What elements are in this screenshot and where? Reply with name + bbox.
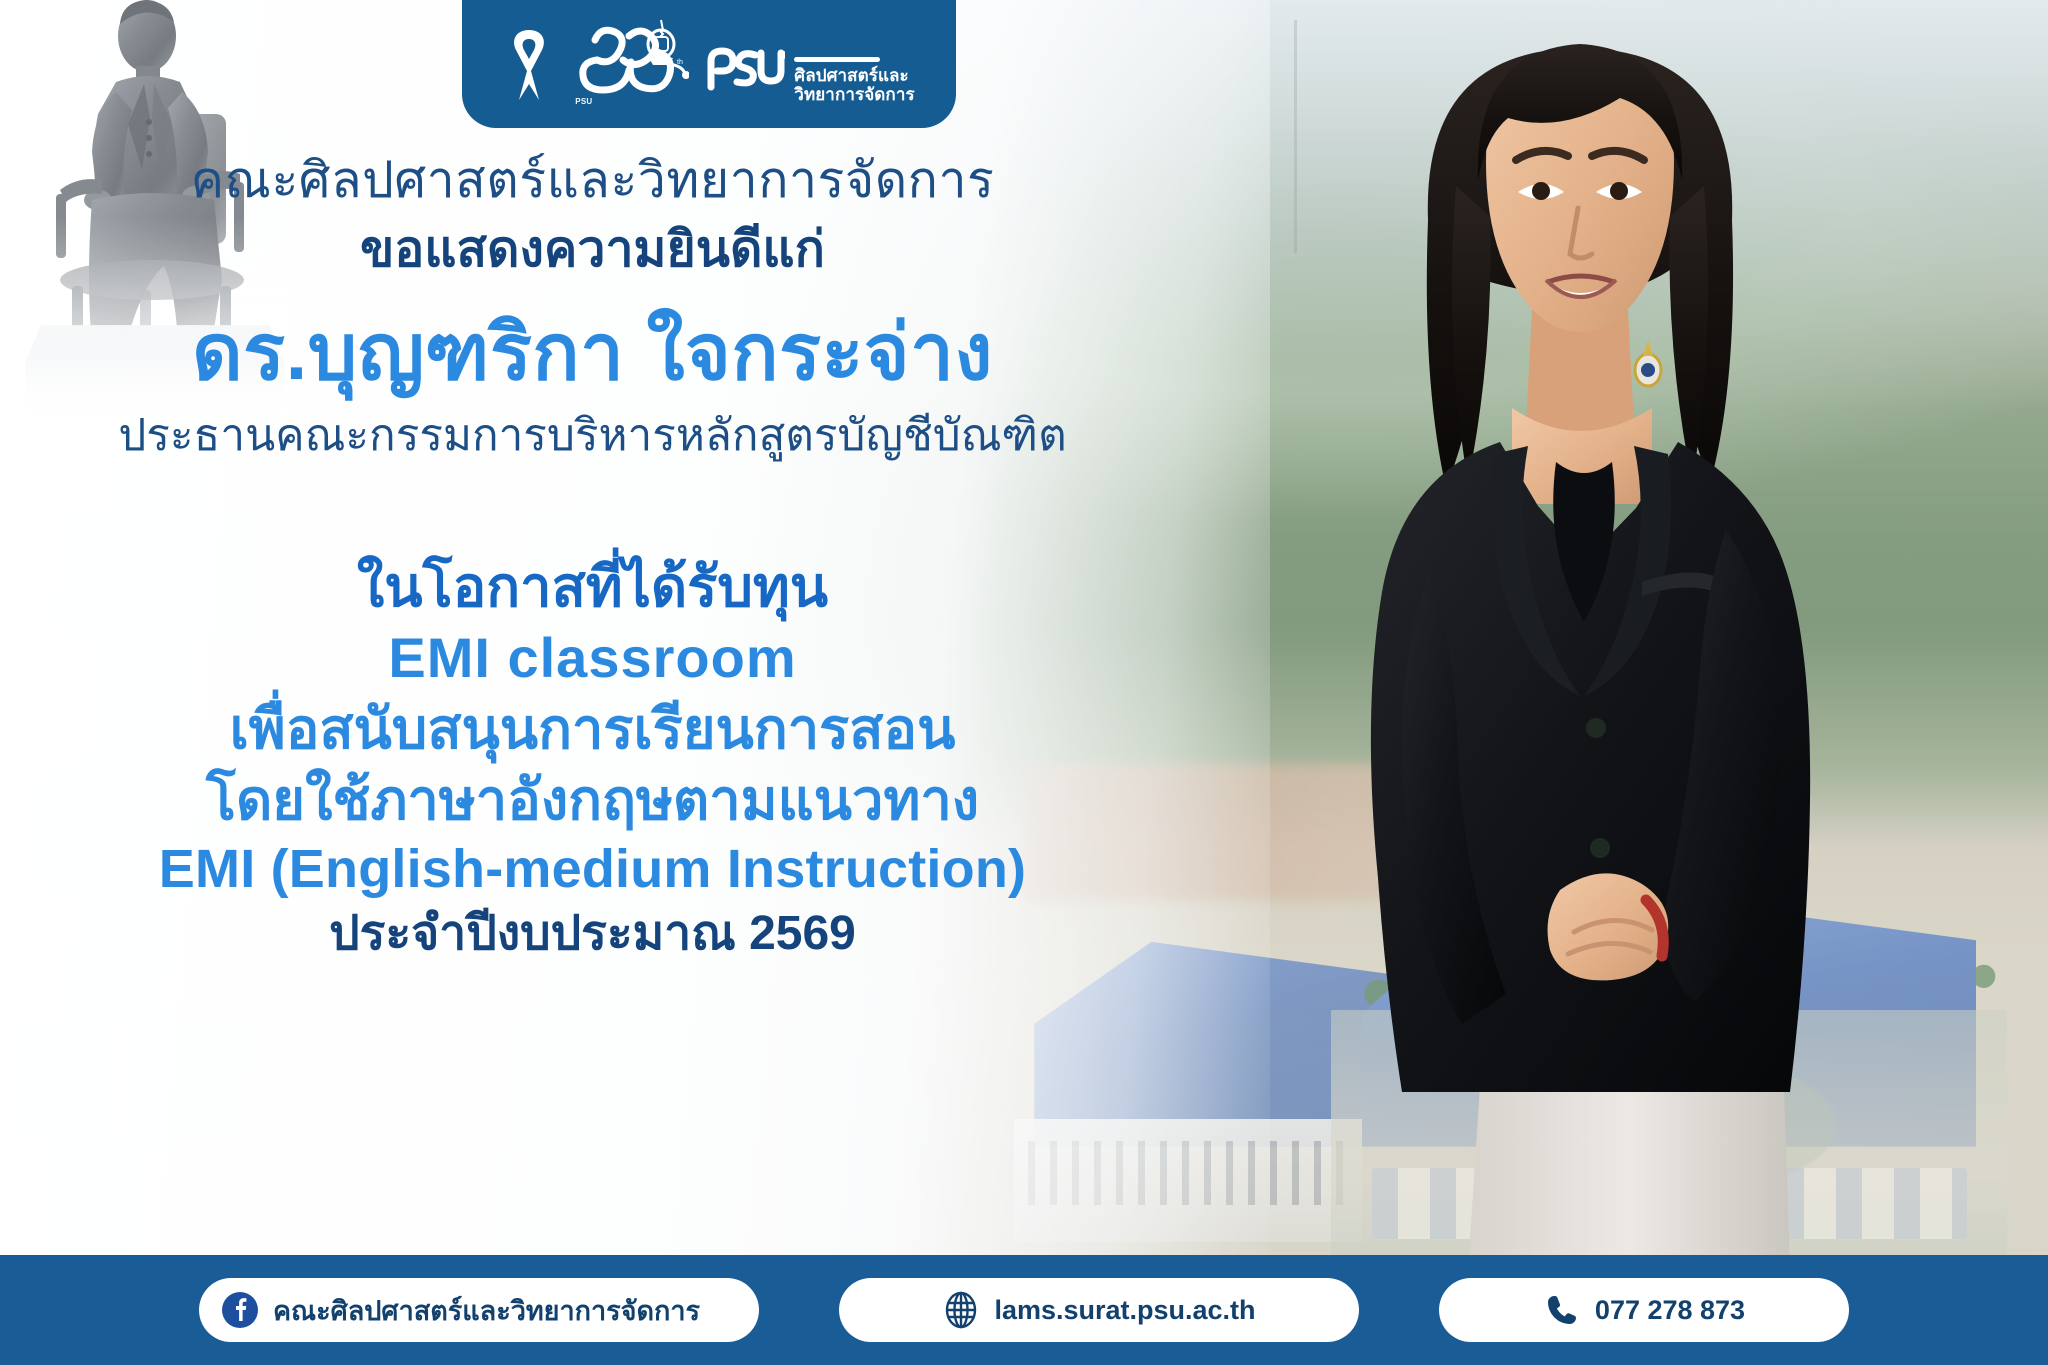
white-awareness-ribbon-icon (503, 26, 555, 104)
phone-label: 077 278 873 (1595, 1295, 1745, 1326)
website-label: lams.surat.psu.ac.th (994, 1295, 1255, 1326)
psu-wordmark-icon (707, 47, 785, 91)
psu-faculty-name: ศิลปศาสตร์และ วิทยาการจัดการ (794, 47, 914, 104)
award-line-5: EMI (English-medium Instruction) (0, 835, 1185, 904)
phone-icon (1543, 1291, 1581, 1329)
congratulate-heading: ขอแสดงความยินดีแก่ (0, 219, 1185, 280)
anniversary-caption: PSU (575, 97, 592, 106)
award-line-3: เพื่อสนับสนุนการเรียนการสอน (0, 693, 1185, 764)
honoree-portrait (1260, 10, 1900, 1270)
faculty-heading: คณะศิลปศาสตร์และวิทยาการจัดการ (0, 150, 1185, 211)
globe-icon (942, 1291, 980, 1329)
svg-text:th: th (677, 59, 683, 66)
congratulations-poster: th PSU ศิลปศาสตร์และ วิทยาการจัดการ คณะศ… (0, 0, 2048, 1365)
psu-faculty-line-1: ศิลปศาสตร์และ (794, 67, 914, 85)
lapel-pin-icon (1635, 340, 1661, 386)
facebook-label: คณะศิลปศาสตร์และวิทยาการจัดการ (273, 1289, 700, 1332)
award-line-4: โดยใช้ภาษาอังกฤษตามแนวทาง (0, 764, 1185, 835)
logo-rule (794, 57, 880, 62)
facebook-icon (221, 1291, 259, 1329)
honoree-name: ดร.บุญฑริกา ใจกระจ่าง (0, 306, 1185, 400)
phone-contact-pill[interactable]: 077 278 873 (1439, 1278, 1849, 1342)
facebook-contact-pill[interactable]: คณะศิลปศาสตร์และวิทยาการจัดการ (199, 1278, 759, 1342)
poster-text-block: คณะศิลปศาสตร์และวิทยาการจัดการ ขอแสดงควา… (0, 150, 1185, 965)
award-details-block: ในโอกาสที่ได้รับทุน EMI classroom เพื่อส… (0, 551, 1185, 965)
psu-faculty-line-2: วิทยาการจัดการ (794, 86, 914, 104)
award-line-2: EMI classroom (0, 622, 1185, 693)
psu-logo-lockup: ศิลปศาสตร์และ วิทยาการจัดการ (707, 47, 914, 104)
brand-badge: th PSU ศิลปศาสตร์และ วิทยาการจัดการ (462, 0, 956, 128)
award-line-6: ประจำปีงบประมาณ 2569 (0, 904, 1185, 965)
honoree-role: ประธานคณะกรรมการบริหารหลักสูตรบัญชีบัณฑิ… (0, 408, 1185, 463)
psu-35th-anniversary-icon: th PSU (573, 18, 689, 104)
footer-contact-bar: คณะศิลปศาสตร์และวิทยาการจัดการ lams.sura… (0, 1255, 2048, 1365)
website-contact-pill[interactable]: lams.surat.psu.ac.th (839, 1278, 1359, 1342)
award-line-1: ในโอกาสที่ได้รับทุน (0, 551, 1185, 622)
